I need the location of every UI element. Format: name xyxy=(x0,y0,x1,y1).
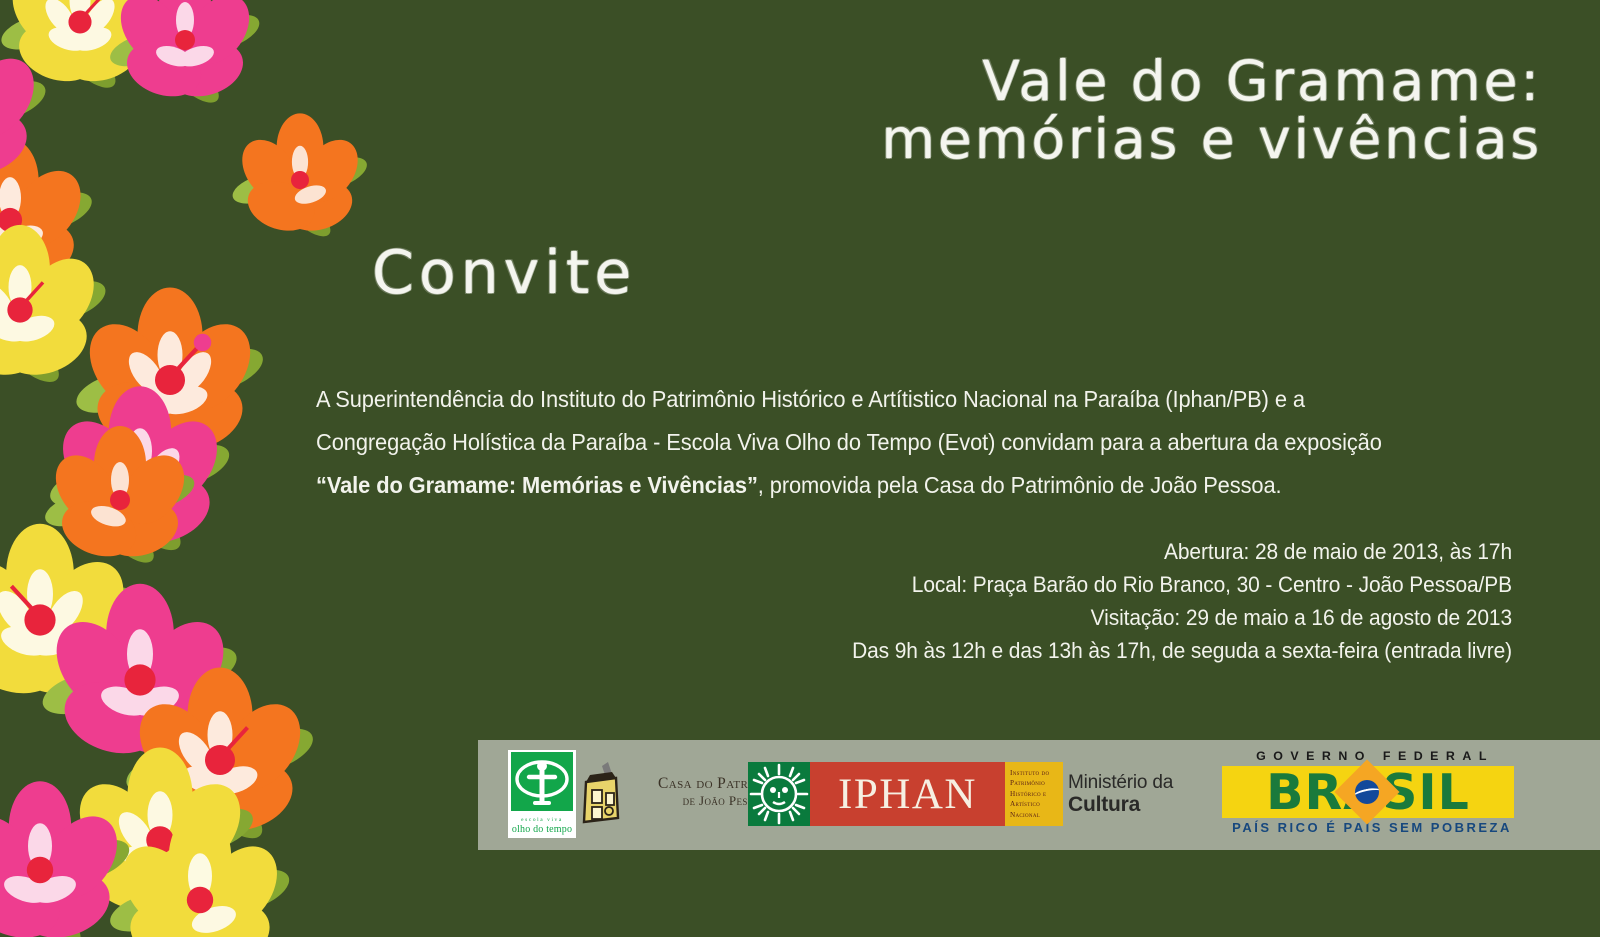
detail-visiting-period: Visitação: 29 de maio a 16 de agosto de … xyxy=(675,601,1512,634)
evot-emblem xyxy=(511,752,573,811)
iphan-subtitle-panel: Instituto do Patrimônio Histórico e Artí… xyxy=(1005,762,1063,826)
iphan-subtitle-1: Instituto do xyxy=(1010,768,1063,778)
sponsor-logo-bar: escola viva olho do tempo Casa do Patrim… xyxy=(478,740,1600,850)
flower-cluster-3 xyxy=(45,288,268,559)
evot-caption: escola viva olho do tempo xyxy=(508,817,576,835)
paragraph-part1: A Superintendência do Instituto do Patri… xyxy=(316,386,1382,455)
casa-do-patrimonio-house-icon xyxy=(568,760,654,830)
escola-viva-olho-do-tempo-logo: escola viva olho do tempo xyxy=(508,750,576,838)
flower-cluster-4 xyxy=(0,524,243,771)
ministerio-line1: Ministério da xyxy=(1068,772,1173,793)
poster-title: Vale do Gramame: memórias e vivências xyxy=(881,52,1542,169)
poster-title-line1: Vale do Gramame: xyxy=(881,52,1542,110)
iphan-subtitle-3: Histórico e xyxy=(1010,789,1063,799)
iphan-subtitle-4: Artístico xyxy=(1010,799,1063,809)
iphan-wordmark: IPHAN xyxy=(838,773,977,816)
event-details: Abertura: 28 de maio de 2013, às 17h Loc… xyxy=(675,535,1512,667)
flower-cluster-9 xyxy=(41,426,199,569)
flower-cluster-8 xyxy=(229,113,371,242)
poster-title-line2: memórias e vivências xyxy=(881,110,1542,168)
iphan-sun-face-icon xyxy=(748,762,810,826)
ministerio-line2: Cultura xyxy=(1068,793,1173,817)
governo-federal-slogan: PAÍS RICO É PAÍS SEM POBREZA xyxy=(1222,820,1522,835)
iphan-sun-panel xyxy=(748,762,810,826)
evot-eye-figure-icon xyxy=(511,752,573,811)
detail-opening: Abertura: 28 de maio de 2013, às 17h xyxy=(675,535,1512,568)
invitation-heading: Convite xyxy=(372,238,636,308)
detail-visiting-hours: Das 9h às 12h e das 13h às 17h, de segud… xyxy=(675,634,1512,667)
iphan-subtitle-5: Nacional xyxy=(1010,810,1063,820)
invitation-poster: Vale do Gramame: memórias e vivências Co… xyxy=(0,0,1600,937)
paragraph-part2: , promovida pela Casa do Patrimônio de J… xyxy=(758,472,1282,498)
evot-caption-large: olho do tempo xyxy=(508,824,576,835)
flower-cluster-6 xyxy=(0,781,295,937)
flower-cluster-1 xyxy=(0,0,264,109)
flower-cluster-5 xyxy=(61,668,318,927)
evot-caption-small: escola viva xyxy=(508,817,576,823)
governo-federal-supertitle: GOVERNO FEDERAL xyxy=(1228,749,1522,763)
flower-cluster-7 xyxy=(0,25,51,190)
ministerio-da-cultura-logo: Ministério da Cultura xyxy=(1068,772,1173,817)
iphan-wordmark-panel: IPHAN xyxy=(810,762,1005,826)
brasil-wordmark-block: BRASIL xyxy=(1222,766,1514,818)
paragraph-exhibition-title: “Vale do Gramame: Memórias e Vivências” xyxy=(316,472,758,498)
flower-cluster-2 xyxy=(0,139,111,390)
detail-location: Local: Praça Barão do Rio Branco, 30 - C… xyxy=(675,568,1512,601)
iphan-logo: IPHAN Instituto do Patrimônio Histórico … xyxy=(748,762,1063,826)
iphan-subtitle-2: Patrimônio xyxy=(1010,778,1063,788)
governo-federal-brasil-logo: GOVERNO FEDERAL BRASIL PAÍS RICO É PAÍS … xyxy=(1222,749,1522,841)
brazil-flag-globe-icon xyxy=(1355,780,1379,804)
invitation-paragraph: A Superintendência do Instituto do Patri… xyxy=(316,378,1432,507)
